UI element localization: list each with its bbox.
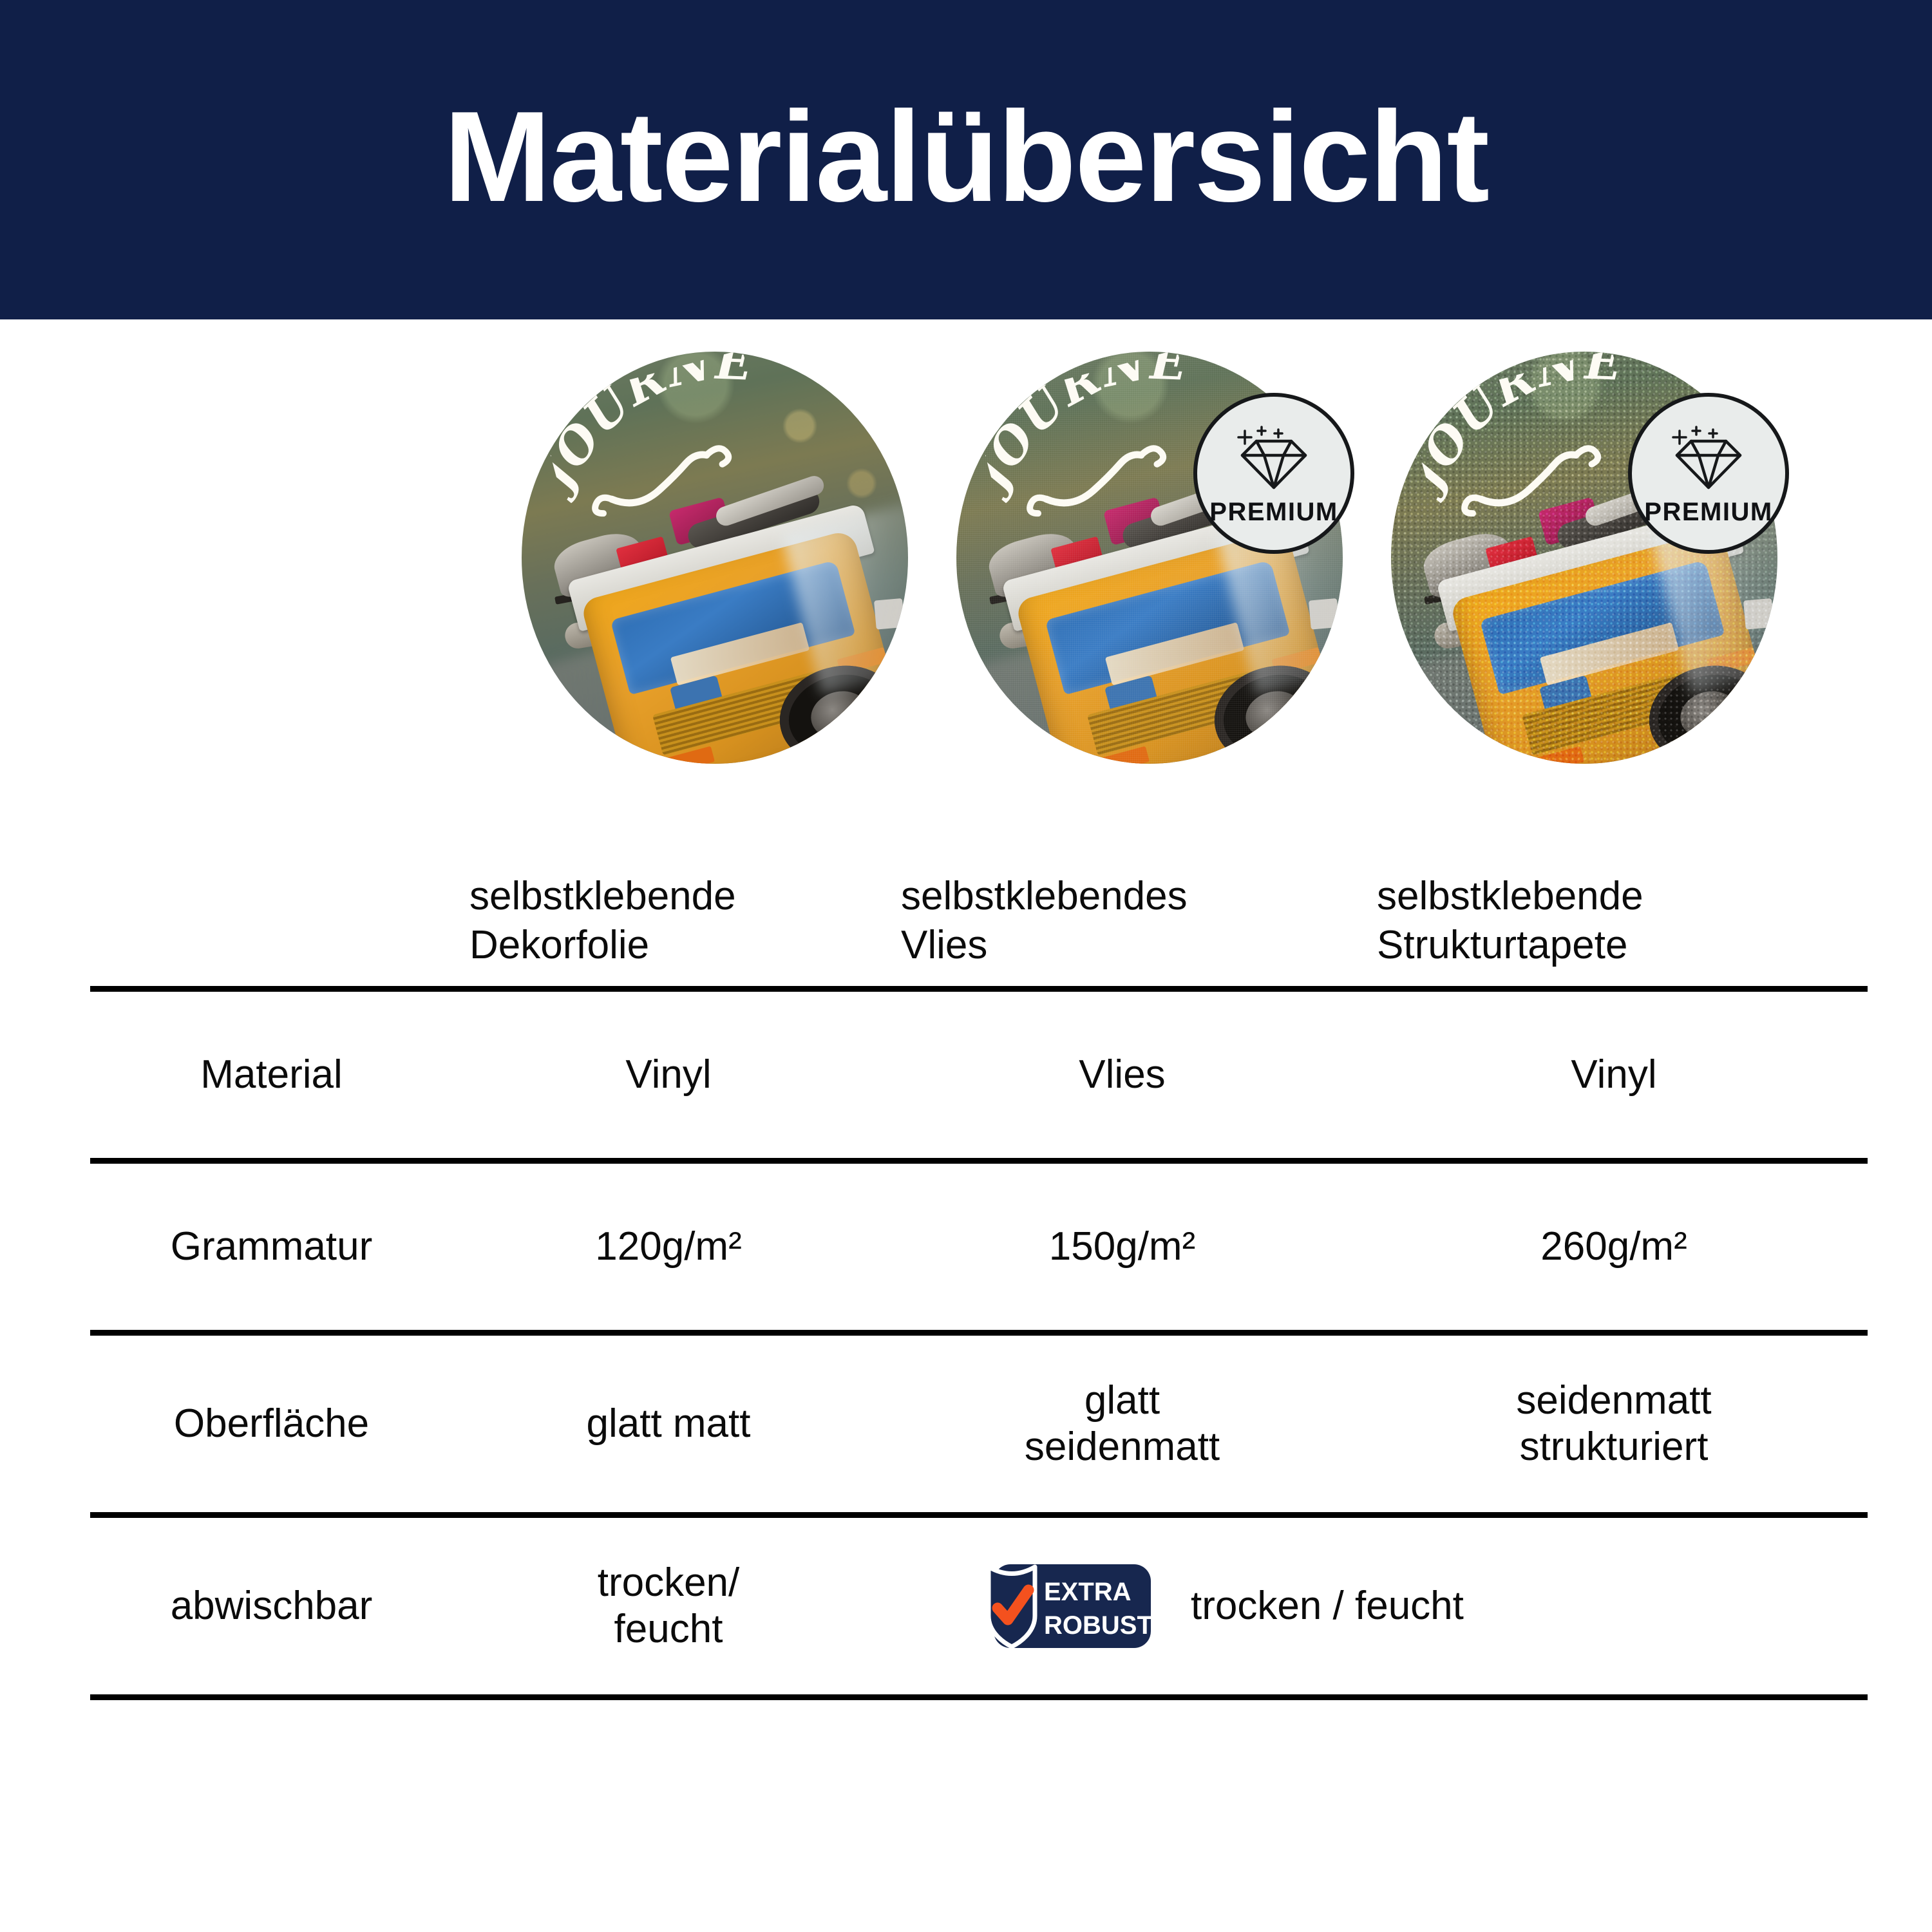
extra-robust-badge: EXTRA ROBUST [960,1560,1153,1652]
row-label-abwischbar: abwischbar [90,1515,453,1698]
column-header-line1: selbstklebende [469,872,873,921]
preview-image-dekorfolie: JOURNEY [522,352,908,764]
diamond-icon [1668,424,1749,491]
cell-material-dekorfolie: Vinyl [453,989,884,1161]
column-header-dekorfolie: selbstklebende Dekorfolie [453,863,884,989]
cell-abwischbar-vlies-strukturtapete: EXTRA ROBUST trocken / feucht [884,1515,1868,1698]
spec-table: selbstklebende Dekorfolie selbstklebende… [90,863,1868,1700]
premium-badge: PREMIUM [1628,393,1789,554]
extra-robust-line1: EXTRA [1044,1578,1132,1606]
van-mirror [1743,598,1774,630]
premium-badge: PREMIUM [1193,393,1354,554]
cell-oberflaeche-dekorfolie: glatt matt [453,1333,884,1515]
preview-dekorfolie[interactable]: JOURNEY [522,352,908,764]
cell-line1: glatt [896,1378,1349,1424]
row-label-material: Material [90,989,453,1161]
cell-oberflaeche-strukturtapete: seidenmatt strukturiert [1360,1333,1868,1515]
cell-line2: feucht [464,1606,873,1653]
preview-vlies[interactable]: JOURNEY [956,352,1343,764]
bottom-rule-cell [884,1698,1360,1701]
cell-material-strukturtapete: Vinyl [1360,989,1868,1161]
column-header-strukturtapete: selbstklebende Strukturtapete [1360,863,1868,989]
bottom-rule-cell [1360,1698,1868,1701]
preview-strukturtapete[interactable]: JOURNEY [1391,352,1777,764]
column-header-line2: Dekorfolie [469,921,873,970]
row-label-oberflaeche: Oberfläche [90,1333,453,1515]
page-header: Materialübersicht [0,0,1932,319]
van-blinker-right [1707,647,1757,674]
cell-abwischbar-spanned-value: trocken / feucht [1191,1583,1464,1629]
cell-line1: trocken/ [464,1560,873,1606]
column-header-line2: Vlies [901,921,1349,970]
table-row-material: Material Vinyl Vlies Vinyl [90,989,1868,1161]
table-bottom-rule [90,1698,1868,1701]
material-preview-strip: JOURNEY [0,319,1932,809]
material-comparison-table: selbstklebende Dekorfolie selbstklebende… [90,863,1868,1700]
cell-grammatur-vlies: 150g/m² [884,1161,1360,1333]
premium-badge-label: PREMIUM [1644,498,1772,527]
table-corner-cell [90,863,453,989]
bottom-rule-cell [90,1698,453,1701]
table-row-grammatur: Grammatur 120g/m² 150g/m² 260g/m² [90,1161,1868,1333]
cell-grammatur-strukturtapete: 260g/m² [1360,1161,1868,1333]
cell-material-vlies: Vlies [884,989,1360,1161]
column-header-line1: selbstklebendes [901,872,1349,921]
column-header-vlies: selbstklebendes Vlies [884,863,1360,989]
van-blinker-right [1272,647,1323,674]
cell-grammatur-dekorfolie: 120g/m² [453,1161,884,1333]
column-header-line1: selbstklebende [1377,872,1856,921]
table-row-oberflaeche: Oberfläche glatt matt glatt seidenmatt s… [90,1333,1868,1515]
wipe-cell-content: EXTRA ROBUST trocken / feucht [896,1560,1856,1652]
row-label-grammatur: Grammatur [90,1161,453,1333]
van-mirror [874,598,904,630]
cell-oberflaeche-vlies: glatt seidenmatt [884,1333,1360,1515]
cell-line1: seidenmatt [1372,1378,1856,1424]
column-header-line2: Strukturtapete [1377,921,1856,970]
table-header-row: selbstklebende Dekorfolie selbstklebende… [90,863,1868,989]
cell-line2: seidenmatt [896,1424,1349,1470]
diamond-icon [1233,424,1314,491]
page-title: Materialübersicht [444,93,1488,222]
van-blinker-right [837,647,888,674]
bottom-rule-cell [453,1698,884,1701]
premium-badge-label: PREMIUM [1209,498,1338,527]
camper-van-photo: JOURNEY [522,352,908,764]
van-mirror [1309,598,1339,630]
table-row-abwischbar: abwischbar trocken/ feucht EXTRA [90,1515,1868,1698]
extra-robust-line2: ROBUST [1044,1611,1153,1640]
cell-line2: strukturiert [1372,1424,1856,1470]
cell-abwischbar-dekorfolie: trocken/ feucht [453,1515,884,1698]
